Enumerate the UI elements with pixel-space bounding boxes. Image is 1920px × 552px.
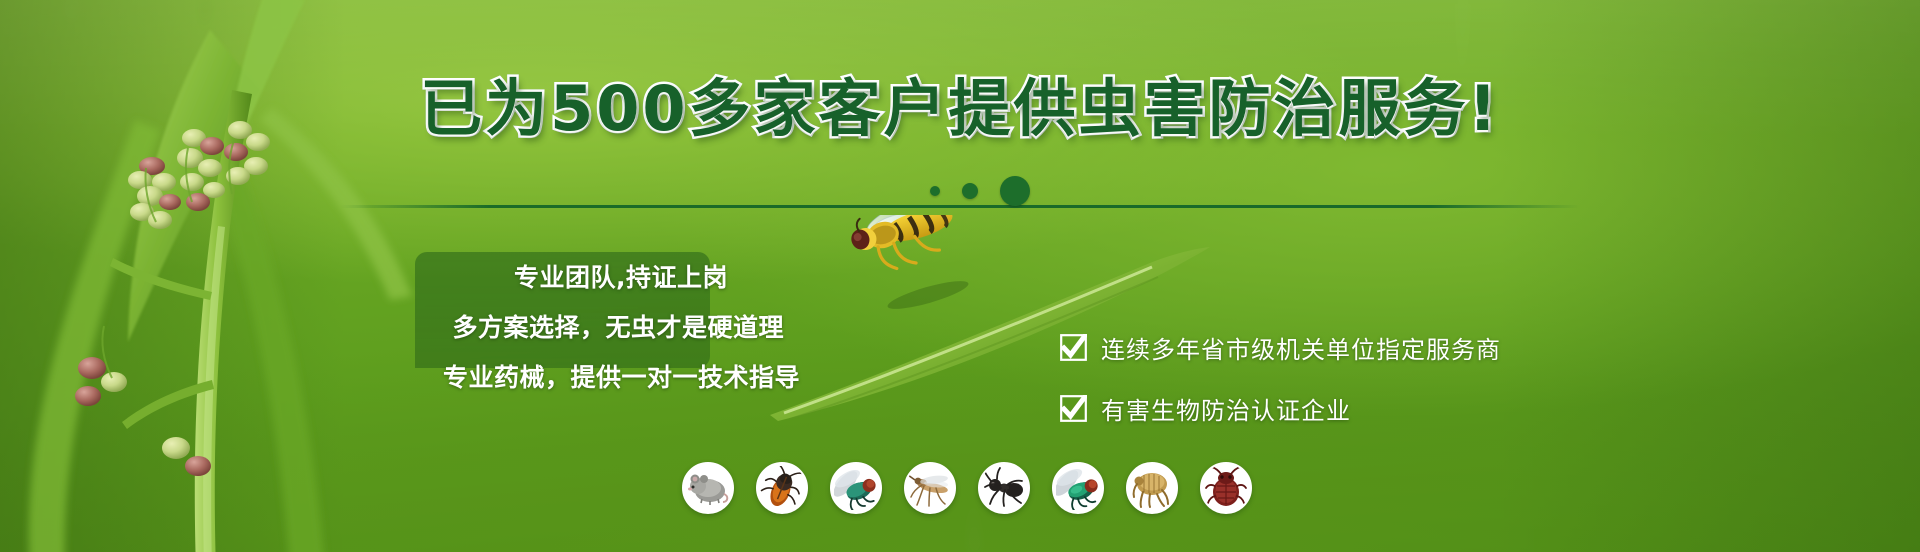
- dot-small-icon: [930, 186, 940, 196]
- checklist-item-label: 有害生物防治认证企业: [1101, 391, 1351, 426]
- pest-icon-circle[interactable]: [1052, 462, 1104, 514]
- cockroach-icon: [760, 466, 804, 510]
- dot-large-icon: [1000, 176, 1030, 206]
- pest-icons-row: [682, 462, 1252, 514]
- mosquito-icon: [908, 466, 952, 510]
- banner-headline: 已为500多家客户提供虫害防治服务!: [0, 78, 1920, 140]
- certification-checklist: 连续多年省市级机关单位指定服务商 有害生物防治认证企业: [1060, 330, 1501, 426]
- pest-icon-circle[interactable]: [904, 462, 956, 514]
- pest-icon-circle[interactable]: [682, 462, 734, 514]
- checklist-item: 连续多年省市级机关单位指定服务商: [1060, 330, 1501, 365]
- selling-point-line-3: 专业药械，提供一对一技术指导: [443, 358, 800, 394]
- pest-icon-circle[interactable]: [1126, 462, 1178, 514]
- pest-icon-circle[interactable]: [1200, 462, 1252, 514]
- decorative-dots-group: [0, 176, 1920, 206]
- ant-icon: [982, 466, 1026, 510]
- checklist-item-label: 连续多年省市级机关单位指定服务商: [1101, 330, 1501, 365]
- pest-icon-circle[interactable]: [830, 462, 882, 514]
- selling-points-text-group: 专业团队,持证上岗 多方案选择，无虫才是硬道理 专业药械，提供一对一技术指导: [330, 258, 800, 394]
- selling-point-line-2: 多方案选择，无虫才是硬道理: [452, 308, 784, 344]
- bedbug-icon: [1204, 466, 1248, 510]
- mouse-icon: [686, 466, 730, 510]
- pest-control-hero-banner: 已为500多家客户提供虫害防治服务! 专业团队,持证上岗 多方案选择，无虫才是硬…: [0, 0, 1920, 552]
- flea-icon: [1130, 466, 1174, 510]
- pest-icon-circle[interactable]: [756, 462, 808, 514]
- fly-icon: [834, 466, 878, 510]
- pest-icon-circle[interactable]: [978, 462, 1030, 514]
- checkbox-checked-icon: [1060, 334, 1087, 361]
- checklist-item: 有害生物防治认证企业: [1060, 391, 1501, 426]
- selling-point-line-1: 专业团队,持证上岗: [514, 258, 728, 294]
- banner-headline-text: 已为500多家客户提供虫害防治服务!: [420, 72, 1500, 145]
- blowfly-icon: [1056, 466, 1100, 510]
- checkbox-checked-icon: [1060, 395, 1087, 422]
- dot-medium-icon: [962, 183, 978, 199]
